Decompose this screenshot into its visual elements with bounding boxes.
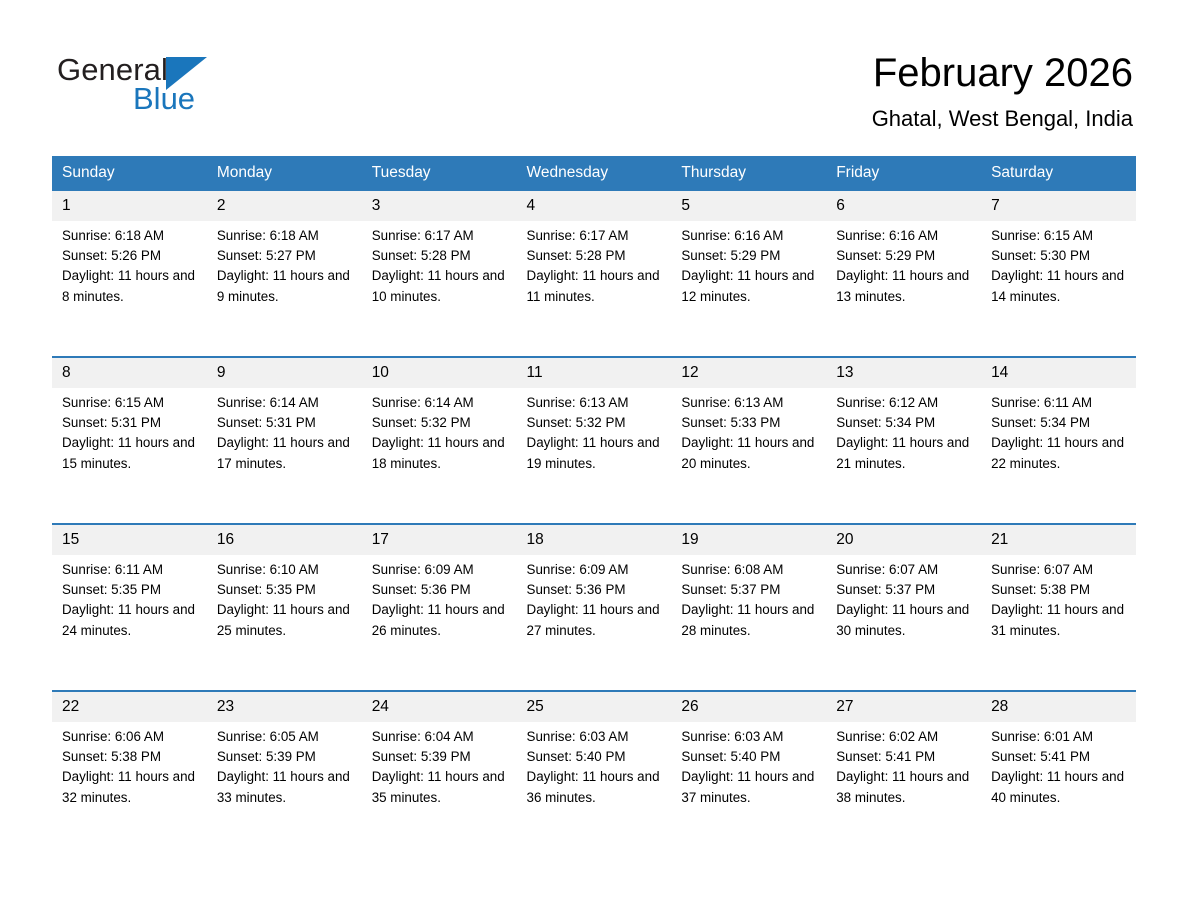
day-cell[interactable]: 1Sunrise: 6:18 AMSunset: 5:26 PMDaylight… xyxy=(52,191,207,357)
sunrise-text: Sunrise: 6:11 AM xyxy=(62,560,199,580)
day-cell[interactable]: 13Sunrise: 6:12 AMSunset: 5:34 PMDayligh… xyxy=(826,357,981,524)
day-details: Sunrise: 6:11 AMSunset: 5:35 PMDaylight:… xyxy=(52,555,207,641)
sunset-text: Sunset: 5:32 PM xyxy=(372,413,509,433)
day-number: 1 xyxy=(52,191,207,221)
day-cell[interactable]: 15Sunrise: 6:11 AMSunset: 5:35 PMDayligh… xyxy=(52,524,207,691)
sunset-text: Sunset: 5:34 PM xyxy=(836,413,973,433)
daylight-text: Daylight: 11 hours and 35 minutes. xyxy=(372,767,509,807)
day-number: 2 xyxy=(207,191,362,221)
sunrise-text: Sunrise: 6:14 AM xyxy=(217,393,354,413)
day-details: Sunrise: 6:15 AMSunset: 5:31 PMDaylight:… xyxy=(52,388,207,474)
daylight-text: Daylight: 11 hours and 26 minutes. xyxy=(372,600,509,640)
day-number: 12 xyxy=(671,358,826,388)
sunrise-text: Sunrise: 6:11 AM xyxy=(991,393,1128,413)
day-number: 15 xyxy=(52,525,207,555)
day-details: Sunrise: 6:03 AMSunset: 5:40 PMDaylight:… xyxy=(671,722,826,808)
sunset-text: Sunset: 5:28 PM xyxy=(372,246,509,266)
daylight-text: Daylight: 11 hours and 40 minutes. xyxy=(991,767,1128,807)
day-cell[interactable]: 21Sunrise: 6:07 AMSunset: 5:38 PMDayligh… xyxy=(981,524,1136,691)
daylight-text: Daylight: 11 hours and 19 minutes. xyxy=(527,433,664,473)
day-number: 24 xyxy=(362,692,517,722)
sunrise-text: Sunrise: 6:13 AM xyxy=(681,393,818,413)
day-cell[interactable]: 16Sunrise: 6:10 AMSunset: 5:35 PMDayligh… xyxy=(207,524,362,691)
daylight-text: Daylight: 11 hours and 27 minutes. xyxy=(527,600,664,640)
daylight-text: Daylight: 11 hours and 33 minutes. xyxy=(217,767,354,807)
calendar-page: General Blue February 2026 Ghatal, West … xyxy=(0,0,1188,918)
sunset-text: Sunset: 5:32 PM xyxy=(527,413,664,433)
day-details: Sunrise: 6:13 AMSunset: 5:32 PMDaylight:… xyxy=(517,388,672,474)
daylight-text: Daylight: 11 hours and 24 minutes. xyxy=(62,600,199,640)
day-details: Sunrise: 6:08 AMSunset: 5:37 PMDaylight:… xyxy=(671,555,826,641)
day-cell[interactable]: 26Sunrise: 6:03 AMSunset: 5:40 PMDayligh… xyxy=(671,691,826,857)
sunrise-text: Sunrise: 6:08 AM xyxy=(681,560,818,580)
sunrise-text: Sunrise: 6:06 AM xyxy=(62,727,199,747)
day-cell[interactable]: 4Sunrise: 6:17 AMSunset: 5:28 PMDaylight… xyxy=(517,191,672,357)
page-subtitle: Ghatal, West Bengal, India xyxy=(872,104,1133,134)
day-cell[interactable]: 17Sunrise: 6:09 AMSunset: 5:36 PMDayligh… xyxy=(362,524,517,691)
day-number: 27 xyxy=(826,692,981,722)
day-number: 22 xyxy=(52,692,207,722)
daylight-text: Daylight: 11 hours and 37 minutes. xyxy=(681,767,818,807)
sunset-text: Sunset: 5:38 PM xyxy=(991,580,1128,600)
day-cell[interactable]: 10Sunrise: 6:14 AMSunset: 5:32 PMDayligh… xyxy=(362,357,517,524)
day-details: Sunrise: 6:04 AMSunset: 5:39 PMDaylight:… xyxy=(362,722,517,808)
day-number: 21 xyxy=(981,525,1136,555)
sunrise-text: Sunrise: 6:12 AM xyxy=(836,393,973,413)
sunrise-text: Sunrise: 6:01 AM xyxy=(991,727,1128,747)
logo-row-top: General xyxy=(57,52,357,88)
sunset-text: Sunset: 5:40 PM xyxy=(527,747,664,767)
day-details: Sunrise: 6:01 AMSunset: 5:41 PMDaylight:… xyxy=(981,722,1136,808)
sunset-text: Sunset: 5:38 PM xyxy=(62,747,199,767)
sunset-text: Sunset: 5:33 PM xyxy=(681,413,818,433)
weekday-header-wednesday: Wednesday xyxy=(517,156,672,191)
sunrise-text: Sunrise: 6:03 AM xyxy=(681,727,818,747)
sunrise-text: Sunrise: 6:13 AM xyxy=(527,393,664,413)
day-number: 19 xyxy=(671,525,826,555)
sunset-text: Sunset: 5:36 PM xyxy=(527,580,664,600)
sunrise-text: Sunrise: 6:07 AM xyxy=(836,560,973,580)
sunset-text: Sunset: 5:27 PM xyxy=(217,246,354,266)
day-details: Sunrise: 6:07 AMSunset: 5:37 PMDaylight:… xyxy=(826,555,981,641)
day-number: 6 xyxy=(826,191,981,221)
day-cell[interactable]: 12Sunrise: 6:13 AMSunset: 5:33 PMDayligh… xyxy=(671,357,826,524)
day-details: Sunrise: 6:06 AMSunset: 5:38 PMDaylight:… xyxy=(52,722,207,808)
day-cell[interactable]: 11Sunrise: 6:13 AMSunset: 5:32 PMDayligh… xyxy=(517,357,672,524)
sunset-text: Sunset: 5:41 PM xyxy=(991,747,1128,767)
daylight-text: Daylight: 11 hours and 36 minutes. xyxy=(527,767,664,807)
daylight-text: Daylight: 11 hours and 18 minutes. xyxy=(372,433,509,473)
day-details: Sunrise: 6:11 AMSunset: 5:34 PMDaylight:… xyxy=(981,388,1136,474)
day-details: Sunrise: 6:12 AMSunset: 5:34 PMDaylight:… xyxy=(826,388,981,474)
day-details: Sunrise: 6:02 AMSunset: 5:41 PMDaylight:… xyxy=(826,722,981,808)
sunset-text: Sunset: 5:34 PM xyxy=(991,413,1128,433)
day-cell[interactable]: 5Sunrise: 6:16 AMSunset: 5:29 PMDaylight… xyxy=(671,191,826,357)
day-number: 28 xyxy=(981,692,1136,722)
sunset-text: Sunset: 5:35 PM xyxy=(217,580,354,600)
daylight-text: Daylight: 11 hours and 15 minutes. xyxy=(62,433,199,473)
calendar-week-row: 1Sunrise: 6:18 AMSunset: 5:26 PMDaylight… xyxy=(52,191,1136,357)
day-cell[interactable]: 9Sunrise: 6:14 AMSunset: 5:31 PMDaylight… xyxy=(207,357,362,524)
day-details: Sunrise: 6:09 AMSunset: 5:36 PMDaylight:… xyxy=(362,555,517,641)
sunrise-text: Sunrise: 6:09 AM xyxy=(372,560,509,580)
day-details: Sunrise: 6:03 AMSunset: 5:40 PMDaylight:… xyxy=(517,722,672,808)
daylight-text: Daylight: 11 hours and 9 minutes. xyxy=(217,266,354,306)
day-details: Sunrise: 6:13 AMSunset: 5:33 PMDaylight:… xyxy=(671,388,826,474)
sunrise-text: Sunrise: 6:09 AM xyxy=(527,560,664,580)
day-cell[interactable]: 18Sunrise: 6:09 AMSunset: 5:36 PMDayligh… xyxy=(517,524,672,691)
day-details: Sunrise: 6:18 AMSunset: 5:27 PMDaylight:… xyxy=(207,221,362,307)
sunset-text: Sunset: 5:36 PM xyxy=(372,580,509,600)
sunset-text: Sunset: 5:31 PM xyxy=(217,413,354,433)
day-cell[interactable]: 20Sunrise: 6:07 AMSunset: 5:37 PMDayligh… xyxy=(826,524,981,691)
day-details: Sunrise: 6:16 AMSunset: 5:29 PMDaylight:… xyxy=(826,221,981,307)
day-number: 25 xyxy=(517,692,672,722)
daylight-text: Daylight: 11 hours and 25 minutes. xyxy=(217,600,354,640)
day-cell[interactable]: 19Sunrise: 6:08 AMSunset: 5:37 PMDayligh… xyxy=(671,524,826,691)
sunset-text: Sunset: 5:40 PM xyxy=(681,747,818,767)
sunrise-text: Sunrise: 6:05 AM xyxy=(217,727,354,747)
day-cell[interactable]: 28Sunrise: 6:01 AMSunset: 5:41 PMDayligh… xyxy=(981,691,1136,857)
daylight-text: Daylight: 11 hours and 32 minutes. xyxy=(62,767,199,807)
sunrise-text: Sunrise: 6:16 AM xyxy=(836,226,973,246)
sunset-text: Sunset: 5:30 PM xyxy=(991,246,1128,266)
day-cell[interactable]: 14Sunrise: 6:11 AMSunset: 5:34 PMDayligh… xyxy=(981,357,1136,524)
sunset-text: Sunset: 5:31 PM xyxy=(62,413,199,433)
sunrise-text: Sunrise: 6:15 AM xyxy=(62,393,199,413)
day-cell[interactable]: 23Sunrise: 6:05 AMSunset: 5:39 PMDayligh… xyxy=(207,691,362,857)
weekday-header-friday: Friday xyxy=(826,156,981,191)
sunrise-text: Sunrise: 6:17 AM xyxy=(527,226,664,246)
sunrise-text: Sunrise: 6:03 AM xyxy=(527,727,664,747)
daylight-text: Daylight: 11 hours and 10 minutes. xyxy=(372,266,509,306)
day-number: 20 xyxy=(826,525,981,555)
title-block: February 2026 Ghatal, West Bengal, India xyxy=(872,48,1133,134)
day-number: 11 xyxy=(517,358,672,388)
calendar-week-row: 8Sunrise: 6:15 AMSunset: 5:31 PMDaylight… xyxy=(52,357,1136,524)
daylight-text: Daylight: 11 hours and 20 minutes. xyxy=(681,433,818,473)
day-details: Sunrise: 6:17 AMSunset: 5:28 PMDaylight:… xyxy=(362,221,517,307)
sunset-text: Sunset: 5:41 PM xyxy=(836,747,973,767)
day-cell[interactable]: 22Sunrise: 6:06 AMSunset: 5:38 PMDayligh… xyxy=(52,691,207,857)
day-details: Sunrise: 6:05 AMSunset: 5:39 PMDaylight:… xyxy=(207,722,362,808)
sunrise-text: Sunrise: 6:16 AM xyxy=(681,226,818,246)
calendar-body: 1Sunrise: 6:18 AMSunset: 5:26 PMDaylight… xyxy=(52,191,1136,857)
day-number: 3 xyxy=(362,191,517,221)
day-number: 13 xyxy=(826,358,981,388)
day-cell[interactable]: 25Sunrise: 6:03 AMSunset: 5:40 PMDayligh… xyxy=(517,691,672,857)
sunrise-text: Sunrise: 6:07 AM xyxy=(991,560,1128,580)
day-cell[interactable]: 24Sunrise: 6:04 AMSunset: 5:39 PMDayligh… xyxy=(362,691,517,857)
weekday-header-row: Sunday Monday Tuesday Wednesday Thursday… xyxy=(52,156,1136,191)
day-number: 9 xyxy=(207,358,362,388)
day-cell[interactable]: 7Sunrise: 6:15 AMSunset: 5:30 PMDaylight… xyxy=(981,191,1136,357)
day-details: Sunrise: 6:10 AMSunset: 5:35 PMDaylight:… xyxy=(207,555,362,641)
weekday-header-saturday: Saturday xyxy=(981,156,1136,191)
daylight-text: Daylight: 11 hours and 17 minutes. xyxy=(217,433,354,473)
calendar-week-row: 22Sunrise: 6:06 AMSunset: 5:38 PMDayligh… xyxy=(52,691,1136,857)
sunset-text: Sunset: 5:39 PM xyxy=(372,747,509,767)
day-number: 18 xyxy=(517,525,672,555)
day-details: Sunrise: 6:17 AMSunset: 5:28 PMDaylight:… xyxy=(517,221,672,307)
day-number: 23 xyxy=(207,692,362,722)
sunrise-text: Sunrise: 6:17 AM xyxy=(372,226,509,246)
sunrise-text: Sunrise: 6:18 AM xyxy=(217,226,354,246)
sunset-text: Sunset: 5:28 PM xyxy=(527,246,664,266)
day-details: Sunrise: 6:14 AMSunset: 5:31 PMDaylight:… xyxy=(207,388,362,474)
day-cell[interactable]: 3Sunrise: 6:17 AMSunset: 5:28 PMDaylight… xyxy=(362,191,517,357)
day-cell[interactable]: 27Sunrise: 6:02 AMSunset: 5:41 PMDayligh… xyxy=(826,691,981,857)
daylight-text: Daylight: 11 hours and 13 minutes. xyxy=(836,266,973,306)
sunrise-text: Sunrise: 6:18 AM xyxy=(62,226,199,246)
day-details: Sunrise: 6:07 AMSunset: 5:38 PMDaylight:… xyxy=(981,555,1136,641)
daylight-text: Daylight: 11 hours and 11 minutes. xyxy=(527,266,664,306)
day-number: 7 xyxy=(981,191,1136,221)
daylight-text: Daylight: 11 hours and 31 minutes. xyxy=(991,600,1128,640)
daylight-text: Daylight: 11 hours and 30 minutes. xyxy=(836,600,973,640)
day-number: 10 xyxy=(362,358,517,388)
day-number: 26 xyxy=(671,692,826,722)
sunset-text: Sunset: 5:37 PM xyxy=(681,580,818,600)
sunset-text: Sunset: 5:35 PM xyxy=(62,580,199,600)
day-details: Sunrise: 6:15 AMSunset: 5:30 PMDaylight:… xyxy=(981,221,1136,307)
daylight-text: Daylight: 11 hours and 14 minutes. xyxy=(991,266,1128,306)
sunrise-text: Sunrise: 6:02 AM xyxy=(836,727,973,747)
daylight-text: Daylight: 11 hours and 38 minutes. xyxy=(836,767,973,807)
sunset-text: Sunset: 5:37 PM xyxy=(836,580,973,600)
weekday-header-monday: Monday xyxy=(207,156,362,191)
calendar-week-row: 15Sunrise: 6:11 AMSunset: 5:35 PMDayligh… xyxy=(52,524,1136,691)
day-number: 4 xyxy=(517,191,672,221)
daylight-text: Daylight: 11 hours and 22 minutes. xyxy=(991,433,1128,473)
general-blue-logo: General Blue xyxy=(57,52,357,122)
day-details: Sunrise: 6:18 AMSunset: 5:26 PMDaylight:… xyxy=(52,221,207,307)
sunset-text: Sunset: 5:39 PM xyxy=(217,747,354,767)
sunset-text: Sunset: 5:29 PM xyxy=(681,246,818,266)
day-number: 5 xyxy=(671,191,826,221)
daylight-text: Daylight: 11 hours and 21 minutes. xyxy=(836,433,973,473)
sunrise-text: Sunrise: 6:04 AM xyxy=(372,727,509,747)
sunrise-text: Sunrise: 6:10 AM xyxy=(217,560,354,580)
calendar-table: Sunday Monday Tuesday Wednesday Thursday… xyxy=(52,156,1136,857)
sunset-text: Sunset: 5:26 PM xyxy=(62,246,199,266)
daylight-text: Daylight: 11 hours and 12 minutes. xyxy=(681,266,818,306)
day-cell[interactable]: 8Sunrise: 6:15 AMSunset: 5:31 PMDaylight… xyxy=(52,357,207,524)
day-details: Sunrise: 6:16 AMSunset: 5:29 PMDaylight:… xyxy=(671,221,826,307)
day-number: 17 xyxy=(362,525,517,555)
daylight-text: Daylight: 11 hours and 8 minutes. xyxy=(62,266,199,306)
sunrise-text: Sunrise: 6:14 AM xyxy=(372,393,509,413)
day-details: Sunrise: 6:09 AMSunset: 5:36 PMDaylight:… xyxy=(517,555,672,641)
day-number: 14 xyxy=(981,358,1136,388)
weekday-header-thursday: Thursday xyxy=(671,156,826,191)
weekday-header-tuesday: Tuesday xyxy=(362,156,517,191)
day-cell[interactable]: 6Sunrise: 6:16 AMSunset: 5:29 PMDaylight… xyxy=(826,191,981,357)
page-title: February 2026 xyxy=(872,48,1133,98)
sunrise-text: Sunrise: 6:15 AM xyxy=(991,226,1128,246)
weekday-header-sunday: Sunday xyxy=(52,156,207,191)
day-number: 8 xyxy=(52,358,207,388)
sunset-text: Sunset: 5:29 PM xyxy=(836,246,973,266)
page-header: General Blue February 2026 Ghatal, West … xyxy=(0,0,1188,155)
logo-text-blue: Blue xyxy=(133,81,195,117)
day-cell[interactable]: 2Sunrise: 6:18 AMSunset: 5:27 PMDaylight… xyxy=(207,191,362,357)
day-number: 16 xyxy=(207,525,362,555)
daylight-text: Daylight: 11 hours and 28 minutes. xyxy=(681,600,818,640)
day-details: Sunrise: 6:14 AMSunset: 5:32 PMDaylight:… xyxy=(362,388,517,474)
